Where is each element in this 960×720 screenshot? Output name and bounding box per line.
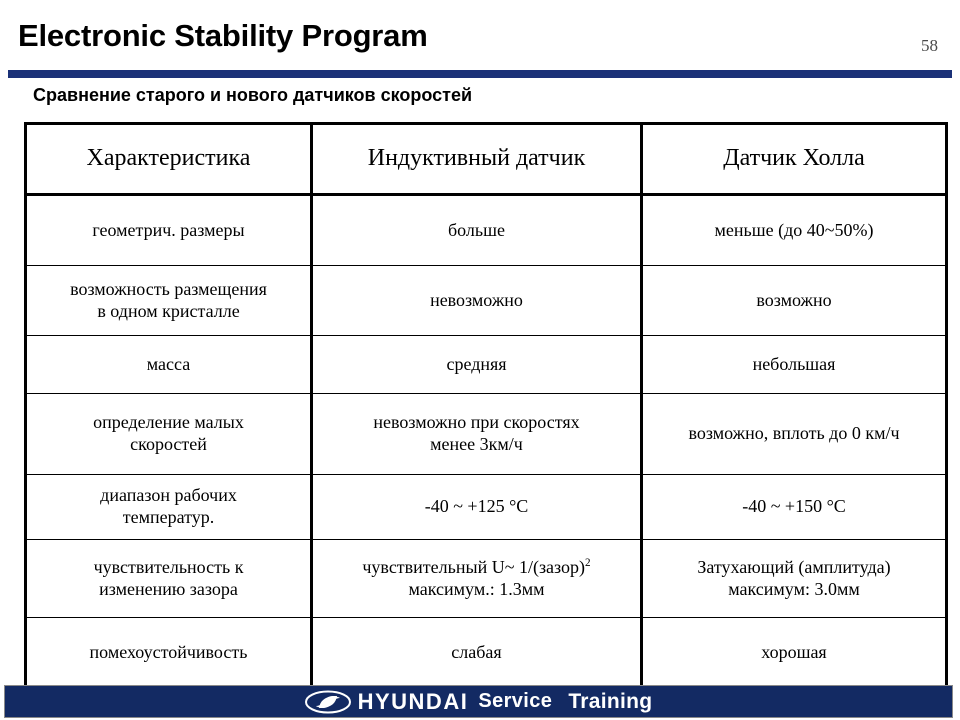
cell-inductive: чувствительный U~ 1/(зазор)2максимум.: 1… (312, 540, 642, 618)
cell-inductive: слабая (312, 618, 642, 689)
title-divider-rule (8, 70, 952, 78)
column-header-inductive-sensor: Индуктивный датчик (312, 124, 642, 195)
table-header-row: Характеристика Индуктивный датчик Датчик… (26, 124, 947, 195)
column-header-characteristic: Характеристика (26, 124, 312, 195)
cell-inductive: -40 ~ +125 °C (312, 475, 642, 540)
cell-inductive: средняя (312, 336, 642, 394)
footer-brand-group: HYUNDAI Service Training (5, 686, 952, 717)
brand-word-service: Service (478, 690, 552, 713)
cell-characteristic: возможность размещенияв одном кристалле (26, 266, 312, 336)
page-number: 58 (921, 36, 938, 56)
table-row: определение малыхскоростей невозможно пр… (26, 394, 947, 475)
table-row: чувствительность кизменению зазора чувст… (26, 540, 947, 618)
cell-characteristic: геометрич. размеры (26, 195, 312, 266)
cell-inductive: невозможно при скоростяхменее 3км/ч (312, 394, 642, 475)
cell-characteristic: помехоустойчивость (26, 618, 312, 689)
table-row: помехоустойчивость слабая хорошая (26, 618, 947, 689)
cell-characteristic: определение малыхскоростей (26, 394, 312, 475)
cell-hall: -40 ~ +150 °C (642, 475, 947, 540)
table-row: масса средняя небольшая (26, 336, 947, 394)
brand-word-training: Training (568, 690, 652, 714)
sensor-comparison-table: Характеристика Индуктивный датчик Датчик… (24, 122, 948, 690)
cell-inductive-line1-text: чувствительный U~ 1/(зазор) (362, 557, 585, 577)
page-title: Electronic Stability Program (18, 18, 428, 54)
section-subtitle: Сравнение старого и нового датчиков скор… (33, 85, 472, 106)
table-row: геометрич. размеры больше меньше (до 40~… (26, 195, 947, 266)
cell-hall: возможно, вплоть до 0 км/ч (642, 394, 947, 475)
cell-hall: меньше (до 40~50%) (642, 195, 947, 266)
cell-inductive: больше (312, 195, 642, 266)
cell-characteristic: диапазон рабочихтемператур. (26, 475, 312, 540)
cell-hall: Затухающий (амплитуда)максимум: 3.0мм (642, 540, 947, 618)
cell-inductive: невозможно (312, 266, 642, 336)
hyundai-logo-icon (305, 690, 351, 714)
cell-inductive-line2: максимум.: 1.3мм (408, 579, 544, 599)
table-row: диапазон рабочихтемператур. -40 ~ +125 °… (26, 475, 947, 540)
cell-characteristic: чувствительность кизменению зазора (26, 540, 312, 618)
cell-hall: возможно (642, 266, 947, 336)
footer-bar: HYUNDAI Service Training (4, 685, 953, 718)
cell-hall: небольшая (642, 336, 947, 394)
cell-inductive-exponent: 2 (585, 557, 591, 569)
brand-name-hyundai: HYUNDAI (358, 689, 469, 715)
cell-hall: хорошая (642, 618, 947, 689)
cell-characteristic: масса (26, 336, 312, 394)
table-row: возможность размещенияв одном кристалле … (26, 266, 947, 336)
column-header-hall-sensor: Датчик Холла (642, 124, 947, 195)
